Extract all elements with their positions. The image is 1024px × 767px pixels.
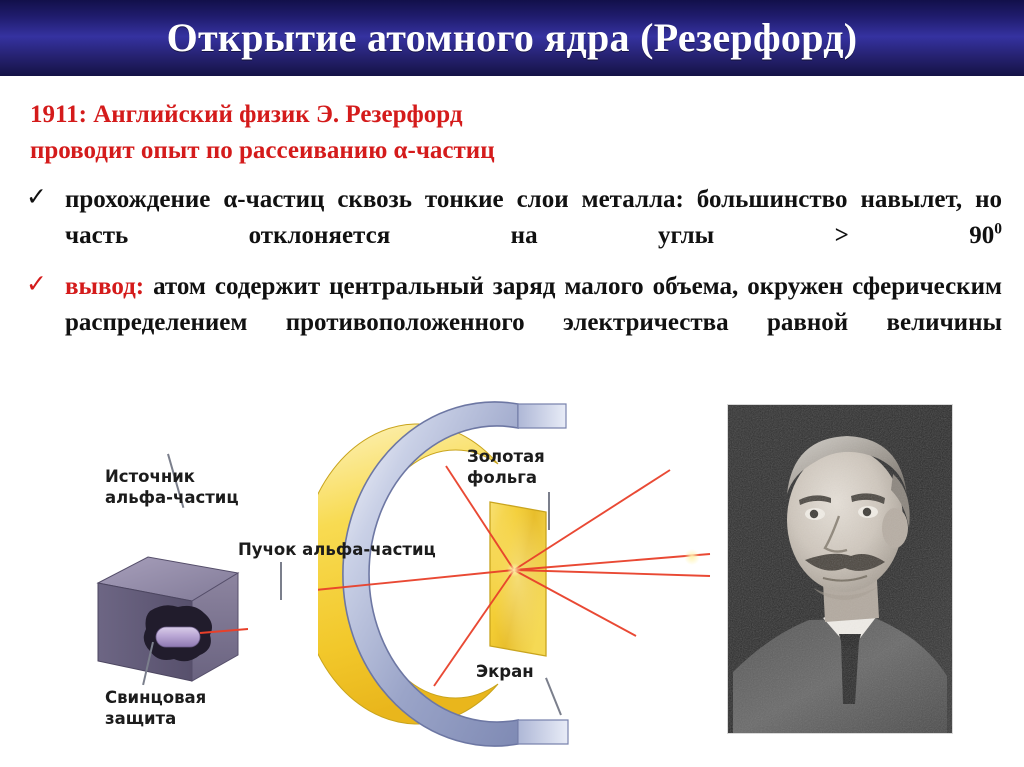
leader-line-foil	[548, 492, 550, 530]
label-lead-shield: Свинцовая защита	[105, 688, 206, 729]
scattering-point-glow	[507, 563, 521, 577]
bullet-item-1: ✓ прохождение α-частиц сквозь тонкие сло…	[0, 182, 1024, 255]
intro-line-2: проводит опыт по рассеиванию α-частиц	[0, 133, 1024, 169]
bullet-item-2: ✓ вывод: атом содержит центральный заряд…	[0, 269, 1024, 342]
alpha-source-capsule	[156, 627, 200, 647]
gold-foil-sheet	[490, 502, 546, 656]
ring-top-cut-face	[518, 404, 566, 428]
label-alpha-source: Источник альфа-частиц	[105, 467, 239, 508]
intro-line-1: 1911: Английский физик Э. Резерфорд	[0, 76, 1024, 133]
bullet-text-2: вывод: атом содержит центральный заряд м…	[65, 269, 1002, 342]
label-screen: Экран	[476, 662, 534, 683]
bullet-text-1: прохождение α-частиц сквозь тонкие слои …	[65, 182, 1002, 255]
impact-glow-right	[684, 549, 700, 565]
checkmark-icon: ✓	[26, 184, 47, 209]
portrait-image	[727, 404, 953, 734]
bullet-1-superscript: 0	[994, 221, 1002, 238]
bullet-2-body: атом содержит центральный заряд малого о…	[65, 273, 1002, 336]
slide-header: Открытие атомного ядра (Резерфорд)	[0, 0, 1024, 76]
ring-bottom-cut-face	[518, 720, 568, 744]
bullet-2-lead: вывод:	[65, 273, 144, 300]
bullet-1-body: прохождение α-частиц сквозь тонкие слои …	[65, 186, 1002, 249]
label-alpha-beam: Пучок альфа-частиц	[238, 540, 436, 561]
rutherford-portrait	[727, 404, 953, 734]
checkmark-icon: ✓	[26, 271, 47, 296]
label-gold-foil: Золотая фольга	[467, 447, 545, 488]
leader-line-beam	[280, 562, 282, 600]
lead-source-cube-graphic	[88, 549, 248, 689]
content-body: 1911: Английский физик Э. Резерфорд пров…	[0, 76, 1024, 341]
page-title: Открытие атомного ядра (Резерфорд)	[167, 18, 858, 58]
